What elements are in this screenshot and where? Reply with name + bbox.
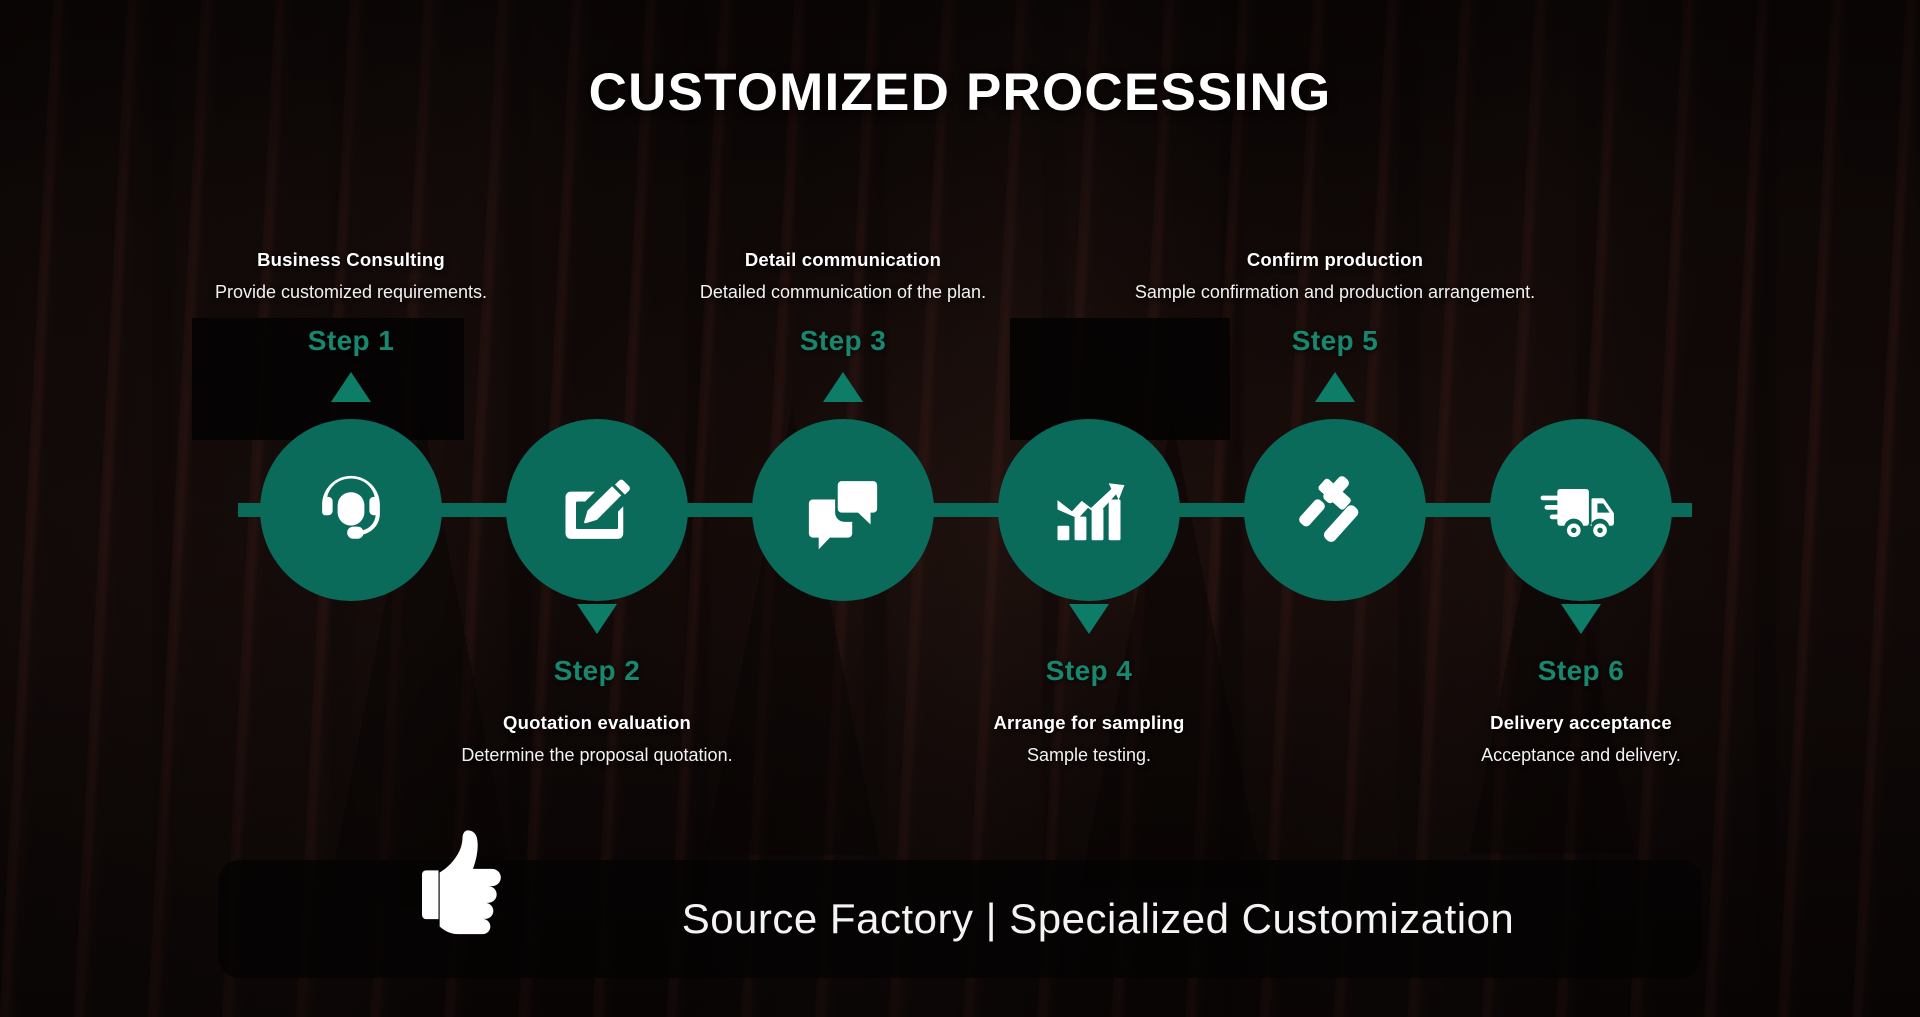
pointer-arrow-step5 xyxy=(1315,372,1355,402)
step-node-5[interactable] xyxy=(1244,419,1426,601)
headset-icon xyxy=(309,468,393,552)
step-heading-1: Business Consulting xyxy=(131,248,571,271)
step-caption-4: Arrange for sampling Sample testing. xyxy=(869,711,1309,767)
step-heading-6: Delivery acceptance xyxy=(1361,711,1801,734)
step-heading-3: Detail communication xyxy=(623,248,1063,271)
step-description-6: Acceptance and delivery. xyxy=(1361,744,1801,767)
delivery-truck-icon xyxy=(1539,468,1623,552)
thumbs-up-icon xyxy=(418,827,526,957)
step-caption-6: Delivery acceptance Acceptance and deliv… xyxy=(1361,711,1801,767)
step-description-3: Detailed communication of the plan. xyxy=(623,281,1063,304)
step-description-5: Sample confirmation and production arran… xyxy=(1115,281,1555,304)
pointer-arrow-step6 xyxy=(1561,604,1601,634)
step-node-1[interactable] xyxy=(260,419,442,601)
step-node-2[interactable] xyxy=(506,419,688,601)
pointer-arrow-step1 xyxy=(331,372,371,402)
banner-text: Source Factory | Specialized Customizati… xyxy=(598,895,1598,943)
step-description-4: Sample testing. xyxy=(869,744,1309,767)
step-node-4[interactable] xyxy=(998,419,1180,601)
bottom-banner: Source Factory | Specialized Customizati… xyxy=(218,860,1702,978)
step-caption-1: Business Consulting Provide customized r… xyxy=(131,248,571,304)
bar-chart-trend-icon xyxy=(1047,468,1131,552)
pointer-arrow-step4 xyxy=(1069,604,1109,634)
step-label-2: Step 2 xyxy=(447,655,747,687)
step-node-6[interactable] xyxy=(1490,419,1672,601)
pointer-arrow-step3 xyxy=(823,372,863,402)
chat-bubbles-icon xyxy=(801,468,885,552)
pointer-arrow-step2 xyxy=(577,604,617,634)
edit-document-icon xyxy=(555,468,639,552)
step-label-6: Step 6 xyxy=(1431,655,1731,687)
step-label-3: Step 3 xyxy=(693,325,993,357)
step-heading-5: Confirm production xyxy=(1115,248,1555,271)
step-heading-4: Arrange for sampling xyxy=(869,711,1309,734)
step-caption-3: Detail communication Detailed communicat… xyxy=(623,248,1063,304)
infographic-canvas: CUSTOMIZED PROCESSING xyxy=(0,0,1920,1017)
step-description-2: Determine the proposal quotation. xyxy=(377,744,817,767)
step-caption-5: Confirm production Sample confirmation a… xyxy=(1115,248,1555,304)
step-caption-2: Quotation evaluation Determine the propo… xyxy=(377,711,817,767)
step-label-5: Step 5 xyxy=(1185,325,1485,357)
step-label-4: Step 4 xyxy=(939,655,1239,687)
gavel-icon xyxy=(1293,468,1377,552)
step-heading-2: Quotation evaluation xyxy=(377,711,817,734)
step-node-3[interactable] xyxy=(752,419,934,601)
step-label-1: Step 1 xyxy=(201,325,501,357)
step-description-1: Provide customized requirements. xyxy=(131,281,571,304)
